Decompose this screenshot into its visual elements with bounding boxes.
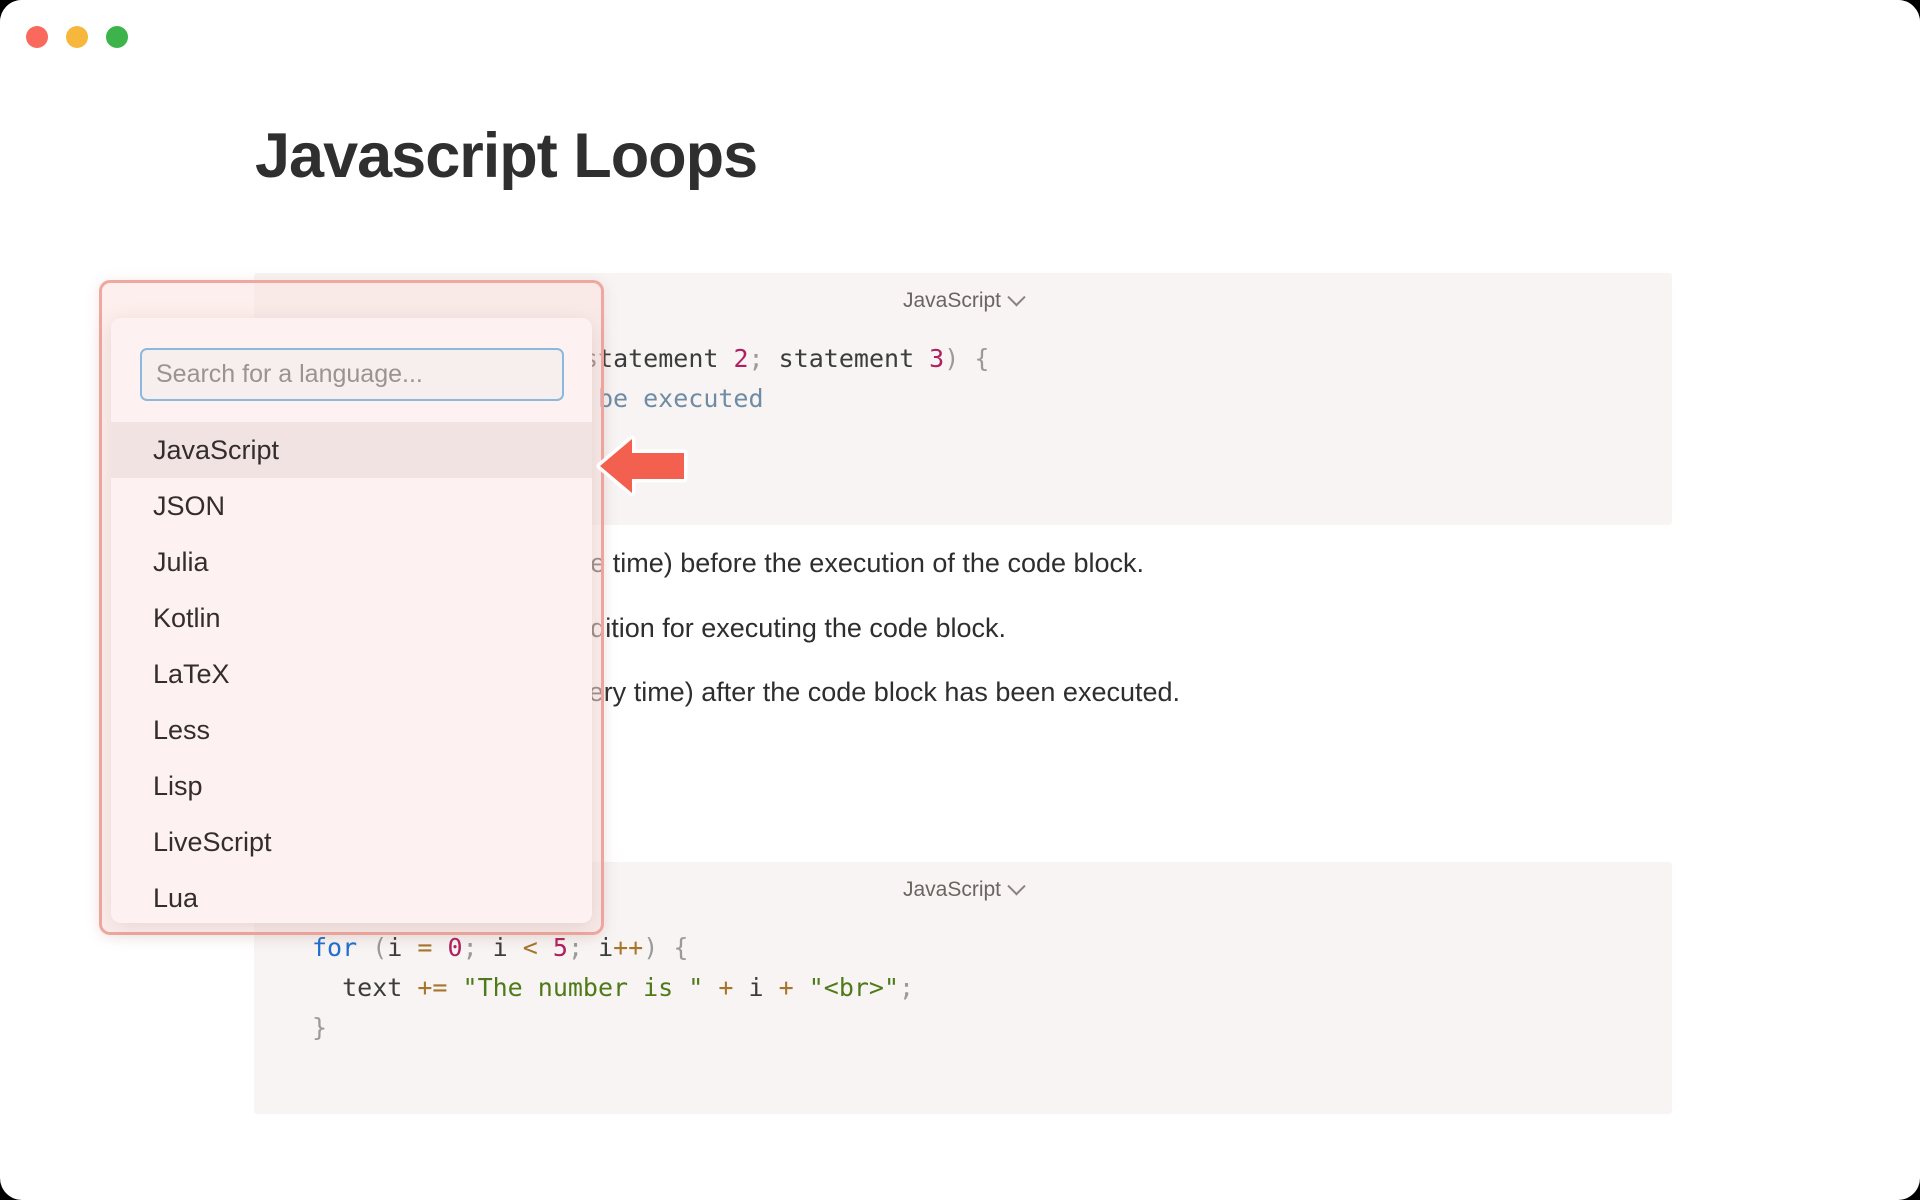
window-close-button[interactable] (26, 26, 48, 48)
window-maximize-button[interactable] (106, 26, 128, 48)
page-title: Javascript Loops (255, 120, 757, 192)
language-list-item-label: JSON (153, 491, 225, 522)
code-token: 2 (733, 344, 748, 373)
window-titlebar (0, 0, 1920, 74)
code-token: } (312, 1013, 327, 1042)
code-token: i (749, 973, 779, 1002)
code-token: ) { (643, 933, 688, 962)
code-token: ( (372, 933, 387, 962)
code-token: += (417, 973, 462, 1002)
code-block-2-content[interactable]: for (i = 0; i < 5; i++) { text += "The n… (312, 928, 914, 1048)
chevron-down-icon (1007, 288, 1025, 306)
language-list-item[interactable]: Lua (111, 870, 592, 923)
code-token: ; (568, 933, 598, 962)
language-dropdown-panel: JavaScriptJSONJuliaKotlinLaTeXLessLispLi… (111, 318, 592, 923)
arrow-left-icon (592, 435, 690, 497)
language-list-item-label: Lisp (153, 771, 203, 802)
code-token: statement (583, 344, 734, 373)
language-selector-2-label: JavaScript (903, 878, 1001, 902)
language-selector-2[interactable]: JavaScript (903, 878, 1023, 902)
language-search-input[interactable] (140, 348, 564, 401)
code-token: ; (463, 933, 493, 962)
app-window: Javascript Loops JavaScript for (stateme… (0, 0, 1920, 1200)
language-list-item[interactable]: Julia (111, 534, 592, 590)
code-token: "<br>" (809, 973, 899, 1002)
code-token: 5 (553, 933, 568, 962)
code-token: i (493, 933, 523, 962)
code-token: < (523, 933, 553, 962)
language-list-item[interactable]: JavaScript (111, 422, 592, 478)
code-token: i (387, 933, 417, 962)
language-list-item[interactable]: JSON (111, 478, 592, 534)
language-list-item-label: Kotlin (153, 603, 221, 634)
code-token: ; (749, 344, 779, 373)
language-list-item-label: Less (153, 715, 210, 746)
language-list-item-label: LaTeX (153, 659, 230, 690)
language-selector-1[interactable]: JavaScript (903, 289, 1023, 313)
chevron-down-icon (1007, 877, 1025, 895)
language-list-item-label: LiveScript (153, 827, 272, 858)
language-selector-1-label: JavaScript (903, 289, 1001, 313)
code-token: for (312, 933, 372, 962)
language-list-item-label: Julia (153, 547, 209, 578)
code-token: 3 (929, 344, 944, 373)
language-list-item-label: JavaScript (153, 435, 279, 466)
code-token: = (417, 933, 447, 962)
code-token: i (598, 933, 613, 962)
language-list-item[interactable]: Lisp (111, 758, 592, 814)
window-minimize-button[interactable] (66, 26, 88, 48)
language-list-item[interactable]: LaTeX (111, 646, 592, 702)
code-token: ; (899, 973, 914, 1002)
language-list[interactable]: JavaScriptJSONJuliaKotlinLaTeXLessLispLi… (111, 422, 592, 923)
code-token: + (779, 973, 809, 1002)
code-token: ) { (944, 344, 989, 373)
code-token: text (312, 973, 417, 1002)
language-list-item-label: Lua (153, 883, 198, 914)
code-token: ++ (613, 933, 643, 962)
code-token: + (718, 973, 748, 1002)
language-list-item[interactable]: LiveScript (111, 814, 592, 870)
code-token: statement (779, 344, 930, 373)
language-list-item[interactable]: Less (111, 702, 592, 758)
code-token: 0 (448, 933, 463, 962)
code-token: "The number is " (463, 973, 719, 1002)
language-list-item[interactable]: Kotlin (111, 590, 592, 646)
